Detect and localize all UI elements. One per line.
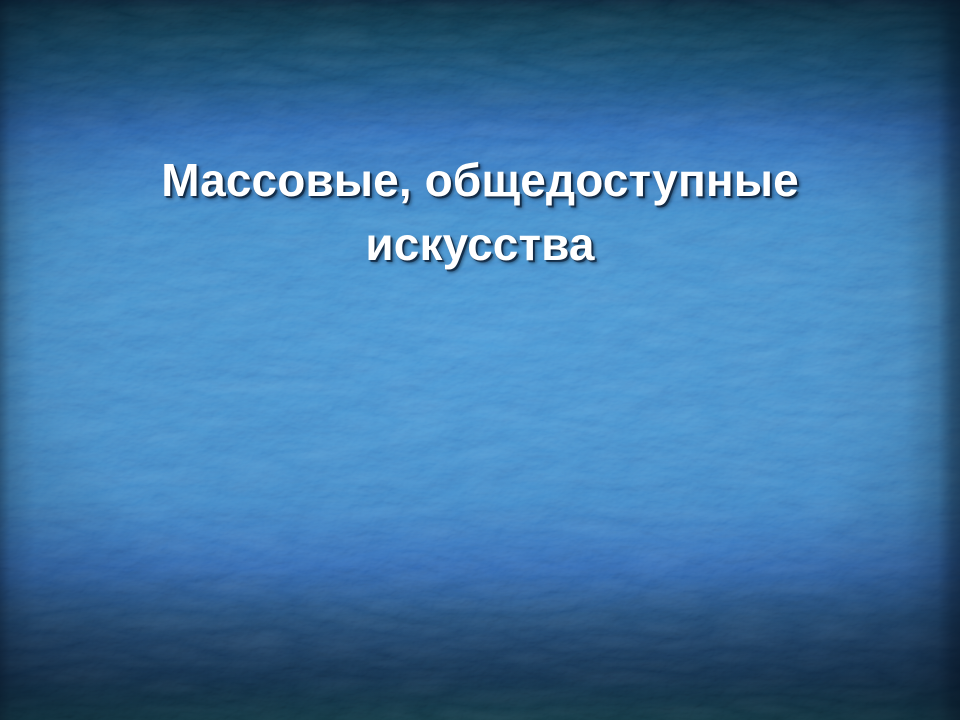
slide-title-block: Массовые, общедоступные искусства — [60, 148, 900, 276]
slide-title: Массовые, общедоступные искусства — [60, 148, 900, 276]
presentation-slide: Массовые, общедоступные искусства — [0, 0, 960, 720]
slide-background-vignette — [0, 0, 960, 720]
